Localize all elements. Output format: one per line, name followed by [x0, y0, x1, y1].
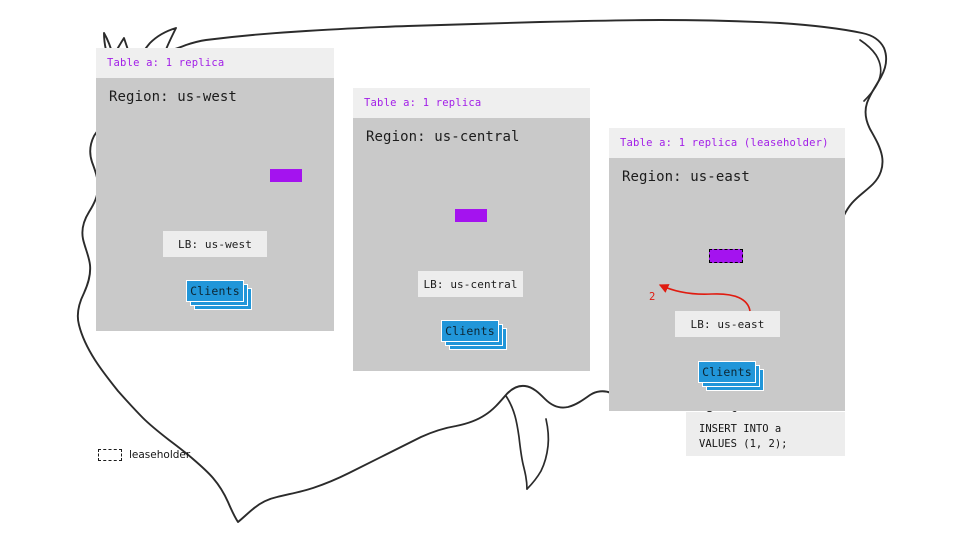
- region-title-us-central: Region: us-central: [353, 118, 590, 145]
- panel-header-us-west: Table a: 1 replica: [96, 48, 334, 78]
- panel-header-us-central: Table a: 1 replica: [353, 88, 590, 118]
- region-title-us-west: Region: us-west: [96, 78, 334, 105]
- flow-arrow-2-label: 2: [649, 291, 655, 303]
- legend-leaseholder: leaseholder: [98, 449, 190, 461]
- sql-statement-box: INSERT INTO a VALUES (1, 2);: [686, 412, 845, 456]
- dashed-rect-icon: [98, 449, 122, 461]
- sql-line-2: VALUES (1, 2);: [699, 438, 788, 450]
- replica-marker-cen2[interactable]: [455, 209, 487, 222]
- clients-us-east[interactable]: Clients: [698, 361, 764, 391]
- legend-label: leaseholder: [129, 449, 190, 461]
- region-title-us-east: Region: us-east: [609, 158, 845, 185]
- panel-header-us-east: Table a: 1 replica (leaseholder): [609, 128, 845, 158]
- clients-button-us-east[interactable]: Clients: [698, 361, 756, 383]
- clients-us-central[interactable]: Clients: [441, 320, 507, 350]
- clients-us-west[interactable]: Clients: [186, 280, 252, 310]
- clients-button-us-west[interactable]: Clients: [186, 280, 244, 302]
- load-balancer-us-central[interactable]: LB: us-central: [418, 271, 523, 297]
- load-balancer-us-west[interactable]: LB: us-west: [163, 231, 267, 257]
- load-balancer-us-east[interactable]: LB: us-east: [675, 311, 780, 337]
- diagram-canvas: Table a: 1 replica Region: us-west AZ: w…: [0, 0, 960, 540]
- clients-button-us-central[interactable]: Clients: [441, 320, 499, 342]
- replica-marker-east2-leaseholder[interactable]: [709, 249, 743, 263]
- replica-marker-west3[interactable]: [270, 169, 302, 182]
- sql-line-1: INSERT INTO a: [699, 423, 781, 435]
